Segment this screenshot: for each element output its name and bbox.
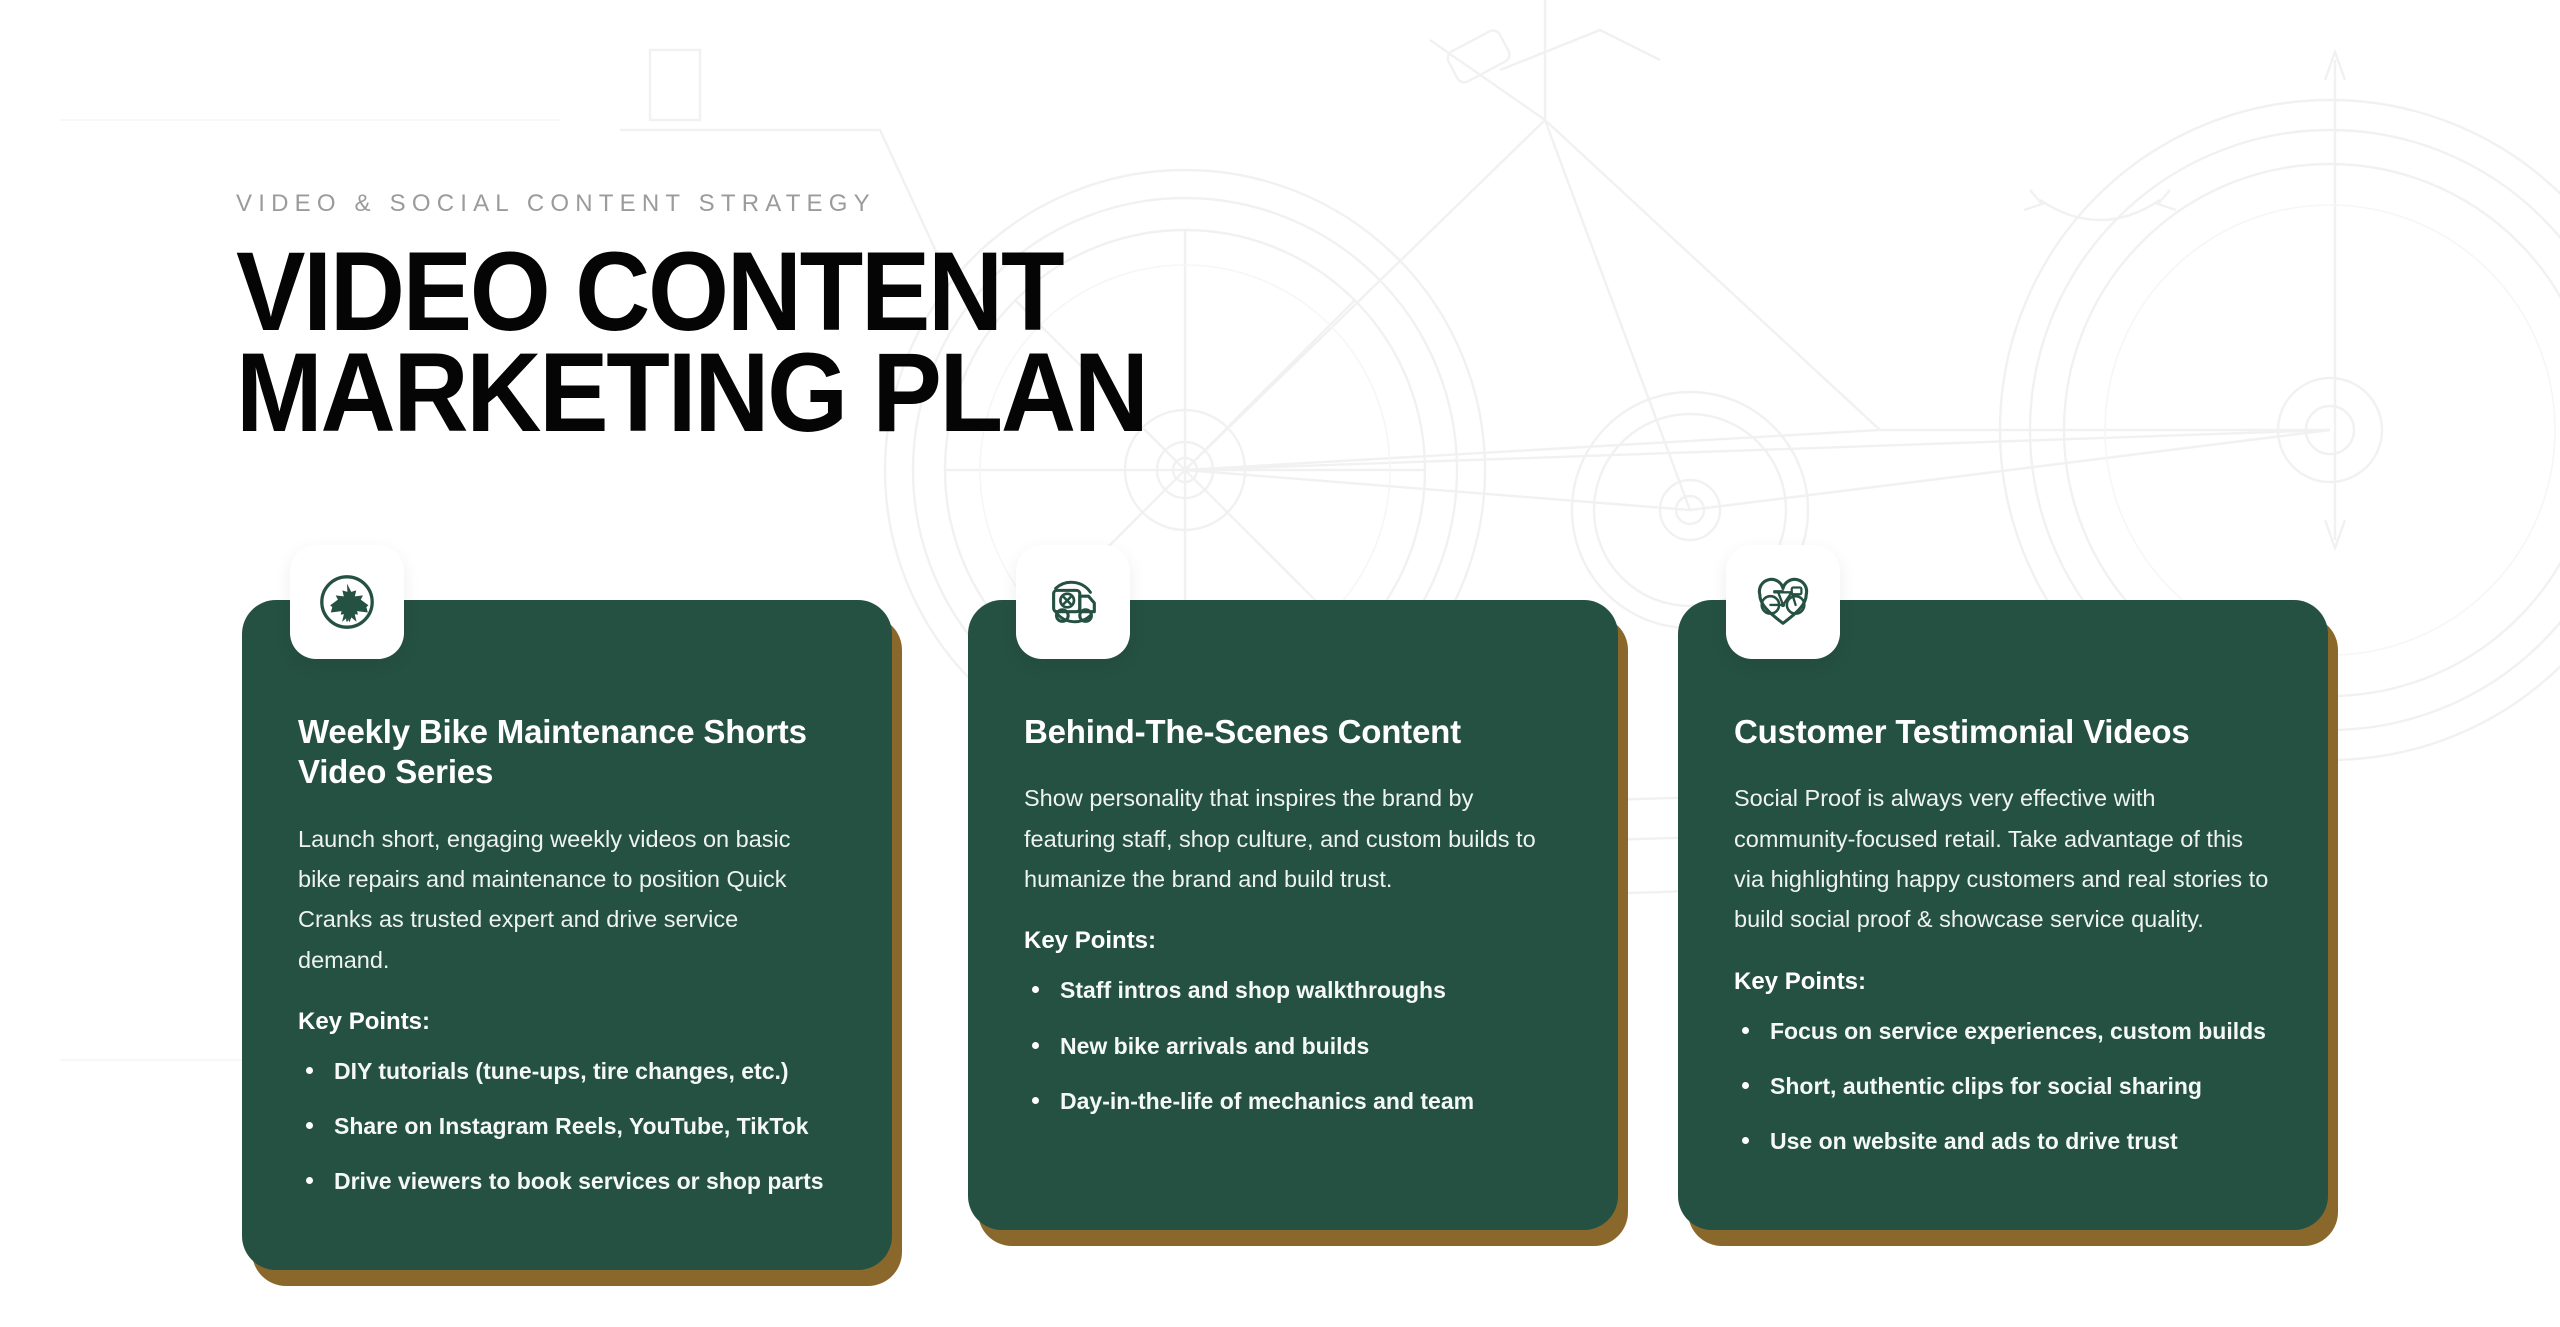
card-title: Weekly Bike Maintenance Shorts Video Ser… xyxy=(298,712,836,793)
eyebrow-label: VIDEO & SOCIAL CONTENT STRATEGY xyxy=(236,190,1215,218)
key-point-item: Focus on service experiences, custom bui… xyxy=(1734,1016,2272,1047)
card-description: Social Proof is always very effective wi… xyxy=(1734,778,2272,940)
bicycle-heart-icon xyxy=(1752,571,1814,633)
card-surface: Weekly Bike Maintenance Shorts Video Ser… xyxy=(242,600,892,1270)
card-icon-badge xyxy=(1016,545,1130,659)
strategy-card[interactable]: Behind-The-Scenes ContentShow personalit… xyxy=(968,600,1618,1230)
key-points-list: DIY tutorials (tune-ups, tire changes, e… xyxy=(298,1056,836,1197)
page-header: VIDEO & SOCIAL CONTENT STRATEGY VIDEO CO… xyxy=(236,190,1215,444)
page-title-line-1: VIDEO CONTENT xyxy=(236,242,1147,343)
key-point-text: DIY tutorials (tune-ups, tire changes, e… xyxy=(334,1058,789,1084)
card-title: Behind-The-Scenes Content xyxy=(1024,712,1562,752)
key-point-text: Use on website and ads to drive trust xyxy=(1770,1128,2178,1154)
card-surface: Behind-The-Scenes ContentShow personalit… xyxy=(968,600,1618,1230)
key-point-item: Staff intros and shop walkthroughs xyxy=(1024,975,1562,1006)
key-point-text: New bike arrivals and builds xyxy=(1060,1033,1369,1059)
key-point-item: Short, authentic clips for social sharin… xyxy=(1734,1071,2272,1102)
key-point-text: Drive viewers to book services or shop p… xyxy=(334,1168,824,1194)
page-title: VIDEO CONTENT MARKETING PLAN xyxy=(236,242,1147,444)
key-points-list: Staff intros and shop walkthroughsNew bi… xyxy=(1024,975,1562,1116)
key-point-item: Drive viewers to book services or shop p… xyxy=(298,1166,836,1197)
card-icon-badge xyxy=(290,545,404,659)
key-points-label: Key Points: xyxy=(1024,927,1562,955)
key-points-label: Key Points: xyxy=(298,1008,836,1036)
key-points-list: Focus on service experiences, custom bui… xyxy=(1734,1016,2272,1157)
card-icon-badge xyxy=(1726,545,1840,659)
key-point-text: Short, authentic clips for social sharin… xyxy=(1770,1073,2202,1099)
key-point-item: Share on Instagram Reels, YouTube, TikTo… xyxy=(298,1111,836,1142)
key-point-item: New bike arrivals and builds xyxy=(1024,1031,1562,1062)
bullet-dot-icon xyxy=(1032,986,1039,993)
bullet-dot-icon xyxy=(1742,1082,1749,1089)
strategy-card[interactable]: Weekly Bike Maintenance Shorts Video Ser… xyxy=(242,600,892,1270)
key-points-label: Key Points: xyxy=(1734,968,2272,996)
bullet-dot-icon xyxy=(1032,1042,1039,1049)
key-point-text: Focus on service experiences, custom bui… xyxy=(1770,1018,2266,1044)
key-point-item: DIY tutorials (tune-ups, tire changes, e… xyxy=(298,1056,836,1087)
page-title-line-2: MARKETING PLAN xyxy=(236,343,1147,444)
card-description: Launch short, engaging weekly videos on … xyxy=(298,819,836,981)
bullet-dot-icon xyxy=(1742,1137,1749,1144)
delivery-truck-icon xyxy=(1042,571,1104,633)
key-point-text: Staff intros and shop walkthroughs xyxy=(1060,977,1446,1003)
key-point-text: Share on Instagram Reels, YouTube, TikTo… xyxy=(334,1113,809,1139)
key-point-item: Day-in-the-life of mechanics and team xyxy=(1024,1086,1562,1117)
bullet-dot-icon xyxy=(306,1122,313,1129)
strategy-card[interactable]: Customer Testimonial VideosSocial Proof … xyxy=(1678,600,2328,1230)
key-point-item: Use on website and ads to drive trust xyxy=(1734,1126,2272,1157)
card-title: Customer Testimonial Videos xyxy=(1734,712,2272,752)
key-point-text: Day-in-the-life of mechanics and team xyxy=(1060,1088,1474,1114)
bullet-dot-icon xyxy=(306,1177,313,1184)
card-description: Show personality that inspires the brand… xyxy=(1024,778,1562,899)
bullet-dot-icon xyxy=(1032,1097,1039,1104)
bullet-dot-icon xyxy=(1742,1027,1749,1034)
bullet-dot-icon xyxy=(306,1067,313,1074)
maple-leaf-circle-icon xyxy=(316,571,378,633)
card-surface: Customer Testimonial VideosSocial Proof … xyxy=(1678,600,2328,1230)
